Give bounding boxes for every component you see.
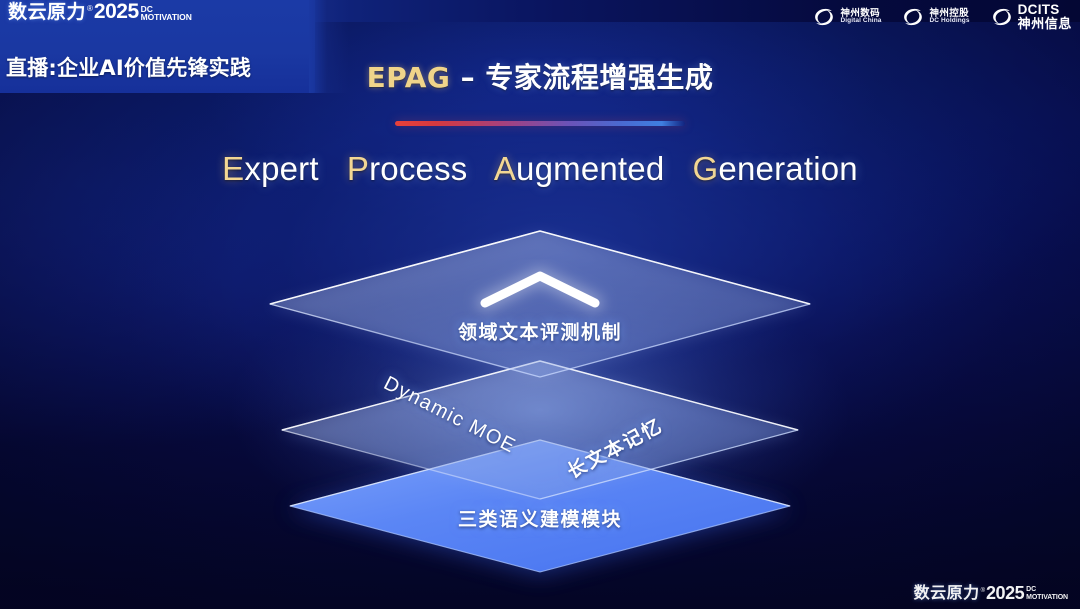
partner-logo-group: 神州数码 Digital China 神州控股 DC Holdings DCIT… [812,3,1072,31]
title-dash: – [450,61,485,94]
partner-name-en: Digital China [840,18,881,25]
subtitle-word-augmented: Augmented [494,150,674,187]
partner-name-en: DC Holdings [929,18,969,25]
subtitle-word-expert: Expert [222,150,328,187]
brand-year: 2025 [94,2,139,22]
footer-brand-logo: 数云原力 ® 2025 DC MOTIVATION [914,583,1068,603]
diagram-label-bottom: 三类语义建模模块 [458,505,622,532]
swirl-logo-icon [901,5,925,29]
subtitle-rest: rocess [369,150,467,187]
subtitle-cap: P [347,150,369,187]
footer-brand-motivation: MOTIVATION [1026,594,1068,602]
partner-name-cn: 神州信息 [1018,17,1072,31]
header-brand-logo: 数云原力 ® 2025 DC MOTIVATION [8,2,192,22]
footer-brand-registered-mark: ® [981,586,985,596]
footer-brand-dc: DC [1026,586,1068,594]
subtitle-cap: E [222,150,244,187]
diagram-label-long-text-memory: 长文本记忆 [562,411,667,484]
subtitle-rest: xpert [244,150,318,187]
diagram-layer-middle [280,361,800,501]
swirl-logo-icon [990,5,1014,29]
slide-canvas: 领域文本评测机制 Dynamic MOE 长文本记忆 三类语义建模模块 数云原力… [0,0,1080,609]
title-acronym: EPAG [367,61,451,94]
title-chinese: 专家流程增强生成 [485,61,713,94]
diagram-label-top: 领域文本评测机制 [458,318,622,345]
diagram-label-dynamic-moe: Dynamic MOE [380,372,520,459]
subtitle-cap: A [494,150,516,187]
stack-glow [230,260,850,560]
chevron-up-icon [485,276,595,303]
brand-name-cn: 数云原力 [8,2,86,22]
partner-logo-dc-holdings: 神州控股 DC Holdings [901,5,969,29]
partner-logo-digital-china: 神州数码 Digital China [812,5,881,29]
partner-name-en: DCITS [1018,3,1072,17]
subtitle-rest: ugmented [516,150,664,187]
brand-motivation: MOTIVATION [141,13,192,21]
subtitle-cap: G [693,150,719,187]
footer-brand-name-cn: 数云原力 [914,583,980,603]
diagram-layer-bottom [288,440,792,575]
diagram-layer-top [268,231,812,379]
page-subtitle: Expert Process Augmented Generation [0,150,1080,188]
footer-brand-year: 2025 [986,583,1024,603]
subtitle-rest: eneration [718,150,857,187]
subtitle-word-generation: Generation [693,150,858,187]
title-divider [395,121,685,126]
brand-registered-mark: ® [87,4,93,14]
partner-logo-dcits: DCITS 神州信息 [990,3,1072,31]
subtitle-word-process: Process [347,150,477,187]
page-title: EPAG – 专家流程增强生成 [0,56,1080,96]
swirl-logo-icon [812,5,836,29]
